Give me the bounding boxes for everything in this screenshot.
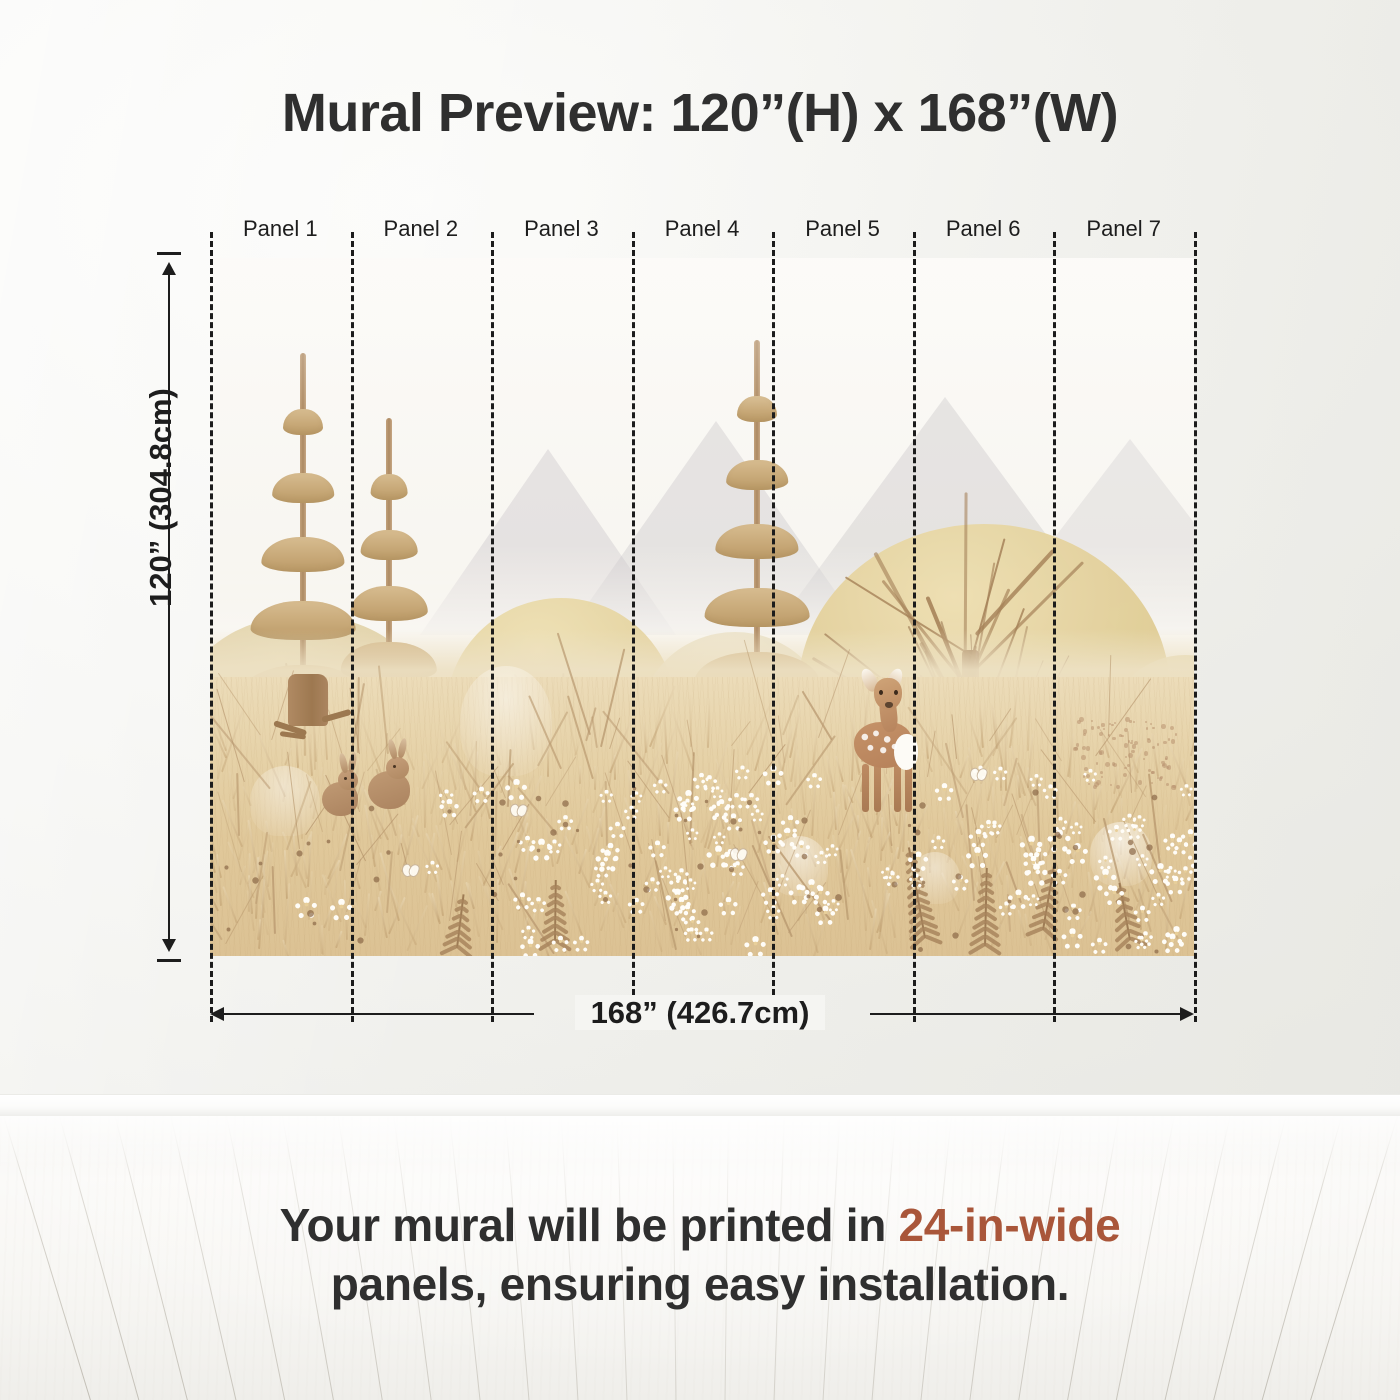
panel-divider-line (491, 232, 494, 1022)
height-dimension-label: 120” (304.8cm) (143, 388, 179, 607)
dimension-cap-top (157, 252, 181, 255)
panel-divider-line (351, 232, 354, 1022)
deer-leg (874, 764, 881, 812)
dimension-line (168, 272, 170, 942)
deer-leg (905, 764, 912, 812)
deer-spots (860, 728, 900, 758)
rabbit-ear (397, 738, 408, 759)
panel-label-6: Panel 6 (946, 216, 1021, 242)
panel-divider-line (913, 232, 916, 1022)
panel-label-5: Panel 5 (805, 216, 880, 242)
panel-label-4: Panel 4 (665, 216, 740, 242)
height-dimension-arrow (168, 252, 170, 962)
panel-divider-line (1053, 232, 1056, 1022)
rabbit-ear (338, 752, 349, 773)
rabbit-eye (344, 777, 347, 780)
width-dimension-label: 168” (426.7cm) (0, 995, 1400, 1031)
baseboard (0, 1094, 1400, 1117)
width-dimension-text: 168” (426.7cm) (575, 995, 826, 1030)
panel-label-3: Panel 3 (524, 216, 599, 242)
deer-leg (894, 764, 901, 812)
panel-divider-line (1194, 232, 1197, 1022)
dimension-cap-bottom (157, 959, 181, 962)
mural-rabbits (210, 258, 1194, 956)
panel-label-7: Panel 7 (1086, 216, 1161, 242)
panel-divider-line (772, 232, 775, 1022)
panel-divider-line (210, 232, 213, 1022)
caption-line-1: Your mural will be printed in 24-in-wide (0, 1196, 1400, 1255)
panel-divider-line (632, 232, 635, 1022)
rabbit-ear (387, 739, 399, 760)
panel-label-2: Panel 2 (384, 216, 459, 242)
caption-line-2: panels, ensuring easy installation. (0, 1255, 1400, 1314)
caption-highlight: 24-in-wide (898, 1199, 1120, 1251)
deer-leg (862, 764, 869, 812)
arrow-head-up (162, 262, 176, 275)
rabbit-head (338, 770, 358, 790)
mural-preview-stage: Mural Preview: 120”(H) x 168”(W) (0, 0, 1400, 1400)
mural-artwork[interactable] (210, 258, 1194, 956)
rabbit-head (386, 757, 409, 779)
page-title: Mural Preview: 120”(H) x 168”(W) (0, 82, 1400, 144)
panel-label-1: Panel 1 (243, 216, 318, 242)
arrow-head-down (162, 939, 176, 952)
caption-text-before: Your mural will be printed in (280, 1199, 899, 1251)
footer-caption: Your mural will be printed in 24-in-wide… (0, 1196, 1400, 1314)
